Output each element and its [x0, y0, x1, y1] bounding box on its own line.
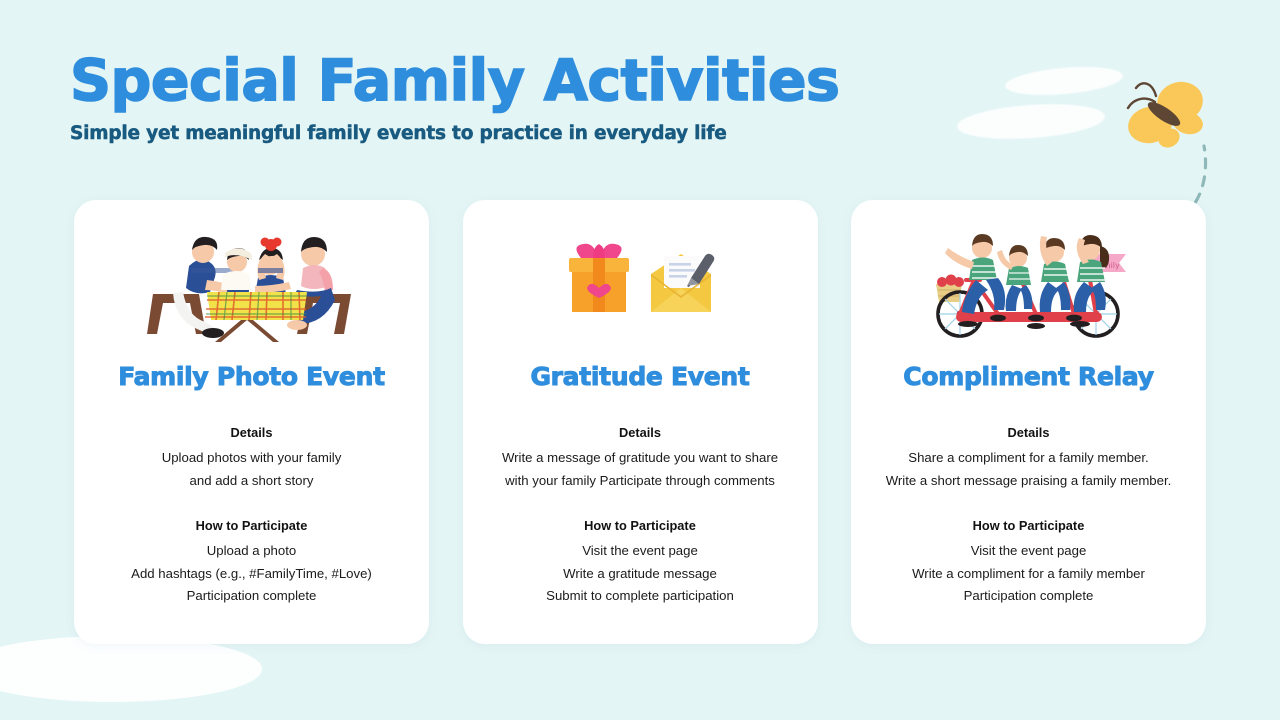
activity-card-family-photo-event[interactable]: Family Photo Event Details Upload photos… [74, 200, 429, 644]
how-line: Submit to complete participation [463, 585, 818, 608]
page-subtitle: Simple yet meaningful family events to p… [70, 123, 839, 144]
family-picnic-icon [137, 222, 367, 344]
how-to-participate-section: How to Participate Visit the event page … [851, 518, 1206, 608]
details-heading: Details [851, 425, 1206, 440]
page-title: Special Family Activities [70, 52, 839, 110]
activity-card-compliment-relay[interactable]: Family [851, 200, 1206, 644]
activity-card-list: Family Photo Event Details Upload photos… [74, 200, 1206, 644]
how-line: Write a compliment for a family member [851, 563, 1206, 586]
how-line: Participation complete [851, 585, 1206, 608]
cloud-icon [0, 636, 262, 702]
card-title: Gratitude Event [530, 362, 749, 391]
how-heading: How to Participate [463, 518, 818, 533]
card-title: Compliment Relay [903, 362, 1153, 391]
how-line: Visit the event page [851, 540, 1206, 563]
how-heading: How to Participate [851, 518, 1206, 533]
details-heading: Details [463, 425, 818, 440]
details-section: Details Share a compliment for a family … [851, 425, 1206, 492]
card-title: Family Photo Event [118, 362, 384, 391]
details-line: Upload photos with your family [74, 447, 429, 470]
family-tandem-bicycle-icon: Family [914, 222, 1144, 344]
details-line: Write a short message praising a family … [851, 470, 1206, 493]
how-to-participate-section: How to Participate Upload a photo Add ha… [74, 518, 429, 608]
how-heading: How to Participate [74, 518, 429, 533]
details-section: Details Write a message of gratitude you… [463, 425, 818, 492]
cloud-icon [956, 100, 1106, 143]
details-line: Write a message of gratitude you want to… [463, 447, 818, 470]
how-to-participate-section: How to Participate Visit the event page … [463, 518, 818, 608]
gift-and-letter-icon [525, 222, 755, 344]
page-header: Special Family Activities Simple yet mea… [70, 52, 839, 144]
how-line: Add hashtags (e.g., #FamilyTime, #Love) [74, 563, 429, 586]
cloud-icon [1004, 63, 1124, 99]
how-line: Visit the event page [463, 540, 818, 563]
details-line: with your family Participate through com… [463, 470, 818, 493]
activity-card-gratitude-event[interactable]: Gratitude Event Details Write a message … [463, 200, 818, 644]
how-line: Participation complete [74, 585, 429, 608]
details-section: Details Upload photos with your family a… [74, 425, 429, 492]
how-line: Upload a photo [74, 540, 429, 563]
butterfly-icon [1122, 76, 1222, 166]
details-line: Share a compliment for a family member. [851, 447, 1206, 470]
how-line: Write a gratitude message [463, 563, 818, 586]
details-heading: Details [74, 425, 429, 440]
details-line: and add a short story [74, 470, 429, 493]
